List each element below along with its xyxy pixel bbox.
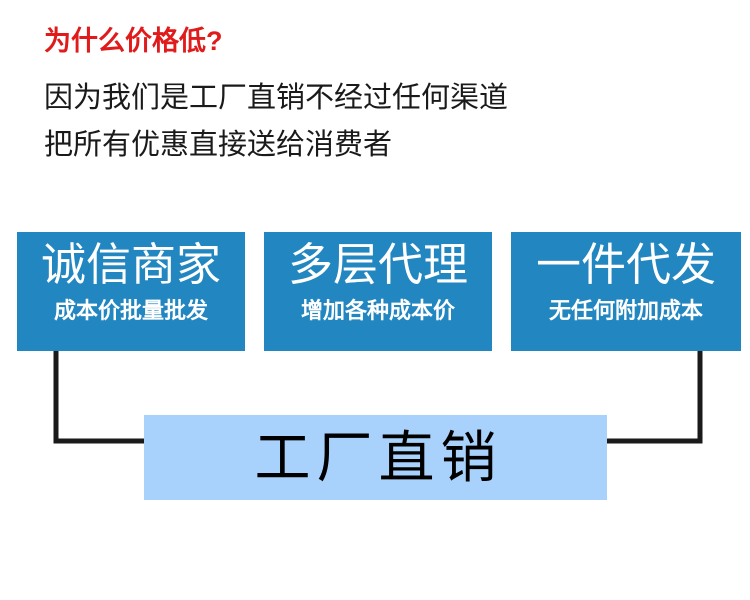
infographic-canvas: 为什么价格低? 因为我们是工厂直销不经过任何渠道 把所有优惠直接送给消费者 诚信… <box>0 0 750 600</box>
result-label: 工厂直销 <box>249 430 503 486</box>
feature-title: 一件代发 <box>536 242 716 287</box>
connector-right <box>602 351 700 441</box>
feature-subtitle: 增加各种成本价 <box>301 300 455 322</box>
feature-subtitle: 无任何附加成本 <box>549 300 703 322</box>
headline-reason-line-2: 把所有优惠直接送给消费者 <box>44 131 392 160</box>
result-box-factory-direct[interactable]: 工厂直销 <box>144 415 607 500</box>
feature-subtitle: 成本价批量批发 <box>54 300 208 322</box>
headline-question: 为什么价格低? <box>44 26 223 58</box>
feature-title: 诚信商家 <box>41 242 221 287</box>
feature-box-multi-level-agency[interactable]: 多层代理 增加各种成本价 <box>264 232 492 351</box>
headline-reason-line-1: 因为我们是工厂直销不经过任何渠道 <box>44 84 508 113</box>
connector-left <box>56 351 150 441</box>
feature-box-dropshipping[interactable]: 一件代发 无任何附加成本 <box>511 232 741 351</box>
feature-title: 多层代理 <box>288 242 468 287</box>
feature-box-honest-merchant[interactable]: 诚信商家 成本价批量批发 <box>17 232 245 351</box>
